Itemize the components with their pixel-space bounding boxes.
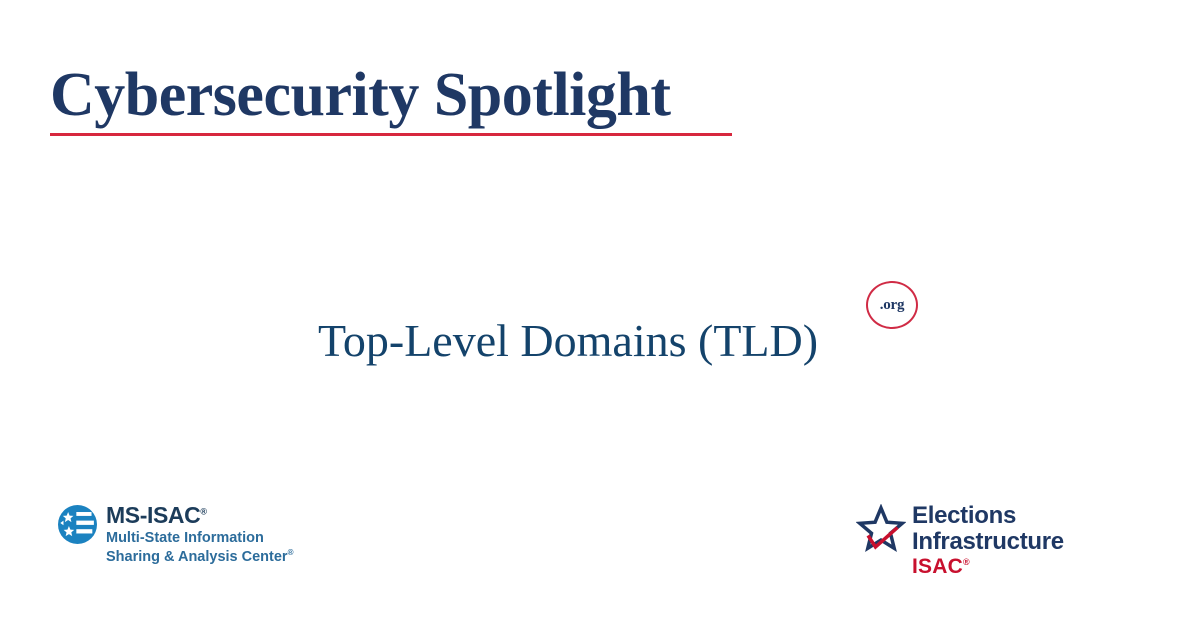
ms-isac-tagline-line2: Sharing & Analysis Center: [106, 549, 288, 565]
ei-isac-name-line1: Elections: [912, 503, 1064, 529]
ms-isac-tagline: Multi-State Information Sharing & Analys…: [106, 529, 293, 566]
ms-isac-name-text: MS-ISAC: [106, 502, 200, 528]
ei-isac-acronym-text: ISAC: [912, 555, 963, 578]
org-tld-badge: .org: [866, 281, 918, 329]
subtitle-text: Top-Level Domains (TLD): [318, 316, 818, 367]
title-block: Cybersecurity Spotlight: [50, 63, 685, 128]
ms-isac-tagline-registered-mark: ®: [288, 548, 294, 557]
ei-isac-acronym: ISAC®: [912, 555, 1064, 578]
ms-isac-wordmark: MS-ISAC® Multi-State Information Sharing…: [106, 503, 293, 566]
ms-isac-tagline-line1: Multi-State Information: [106, 529, 293, 548]
ms-isac-logo: MS-ISAC® Multi-State Information Sharing…: [58, 503, 293, 566]
org-tld-badge-label: .org: [880, 298, 905, 313]
slide-canvas: Cybersecurity Spotlight Top-Level Domain…: [0, 0, 1200, 627]
ei-isac-name-line2: Infrastructure: [912, 529, 1064, 555]
page-title: Cybersecurity Spotlight: [50, 63, 685, 128]
ei-isac-wordmark: Elections Infrastructure ISAC®: [912, 503, 1064, 578]
ei-isac-registered-mark: ®: [963, 557, 970, 567]
ms-isac-name: MS-ISAC®: [106, 503, 293, 527]
ms-isac-registered-mark: ®: [200, 506, 206, 516]
ei-isac-logo: Elections Infrastructure ISAC®: [856, 503, 1064, 578]
flag-globe-icon: [58, 505, 97, 544]
title-underline-rule: [50, 133, 732, 136]
ms-isac-tagline-line2-wrap: Sharing & Analysis Center®: [106, 548, 293, 567]
star-check-icon: [856, 504, 906, 554]
subtitle-block: Top-Level Domains (TLD) .org: [318, 316, 818, 367]
